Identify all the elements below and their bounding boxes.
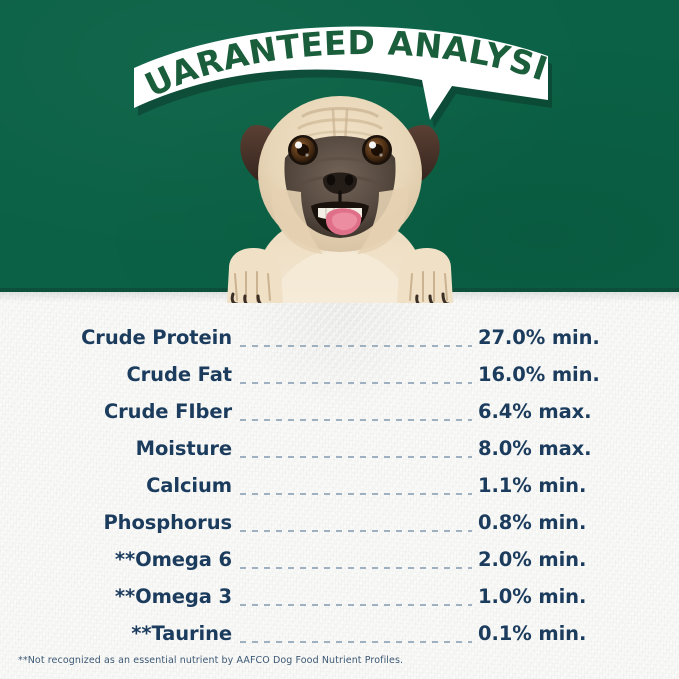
nutrient-label: **Omega 6 (0, 548, 232, 571)
table-row: Phosphorus 0.8% min. (0, 511, 679, 548)
table-row: Calcium 1.1% min. (0, 474, 679, 511)
nutrient-label: Crude Protein (0, 326, 232, 349)
table-row: **Omega 3 1.0% min. (0, 585, 679, 622)
dotted-leader (240, 452, 472, 462)
nutrient-label: Crude FIber (0, 400, 232, 423)
nutrient-value: 16.0% min. (478, 363, 600, 386)
nutrient-value: 8.0% max. (478, 437, 591, 460)
nutrient-label: **Omega 3 (0, 585, 232, 608)
nutrient-label: **Taurine (0, 622, 232, 645)
dotted-leader (240, 378, 472, 388)
table-row: Crude FIber 6.4% max. (0, 400, 679, 437)
table-row: Crude Protein 27.0% min. (0, 326, 679, 363)
nutrient-label: Phosphorus (0, 511, 232, 534)
dotted-leader (240, 526, 472, 536)
nutrient-value: 27.0% min. (478, 326, 600, 349)
dotted-leader (240, 489, 472, 499)
table-row: Moisture 8.0% max. (0, 437, 679, 474)
table-row: **Taurine 0.1% min. (0, 622, 679, 659)
dotted-leader (240, 563, 472, 573)
nutrient-label: Moisture (0, 437, 232, 460)
guaranteed-analysis-table: Crude Protein 27.0% min. Crude Fat 16.0%… (0, 326, 679, 659)
dotted-leader (240, 341, 472, 351)
dotted-leader (240, 637, 472, 647)
guaranteed-analysis-poster: GUARANTEED ANALYSIS Crude Protein 27.0% … (0, 0, 679, 679)
aafco-footnote: **Not recognized as an essential nutrien… (18, 655, 403, 666)
nutrient-value: 0.8% min. (478, 511, 586, 534)
nutrient-value: 1.1% min. (478, 474, 586, 497)
nutrient-value: 6.4% max. (478, 400, 591, 423)
dotted-leader (240, 600, 472, 610)
dotted-leader (240, 415, 472, 425)
nutrient-value: 2.0% min. (478, 548, 586, 571)
nutrient-value: 0.1% min. (478, 622, 586, 645)
table-row: **Omega 6 2.0% min. (0, 548, 679, 585)
guaranteed-analysis-banner: GUARANTEED ANALYSIS (130, 24, 560, 139)
nutrient-label: Calcium (0, 474, 232, 497)
table-row: Crude Fat 16.0% min. (0, 363, 679, 400)
nutrient-value: 1.0% min. (478, 585, 586, 608)
nutrient-label: Crude Fat (0, 363, 232, 386)
